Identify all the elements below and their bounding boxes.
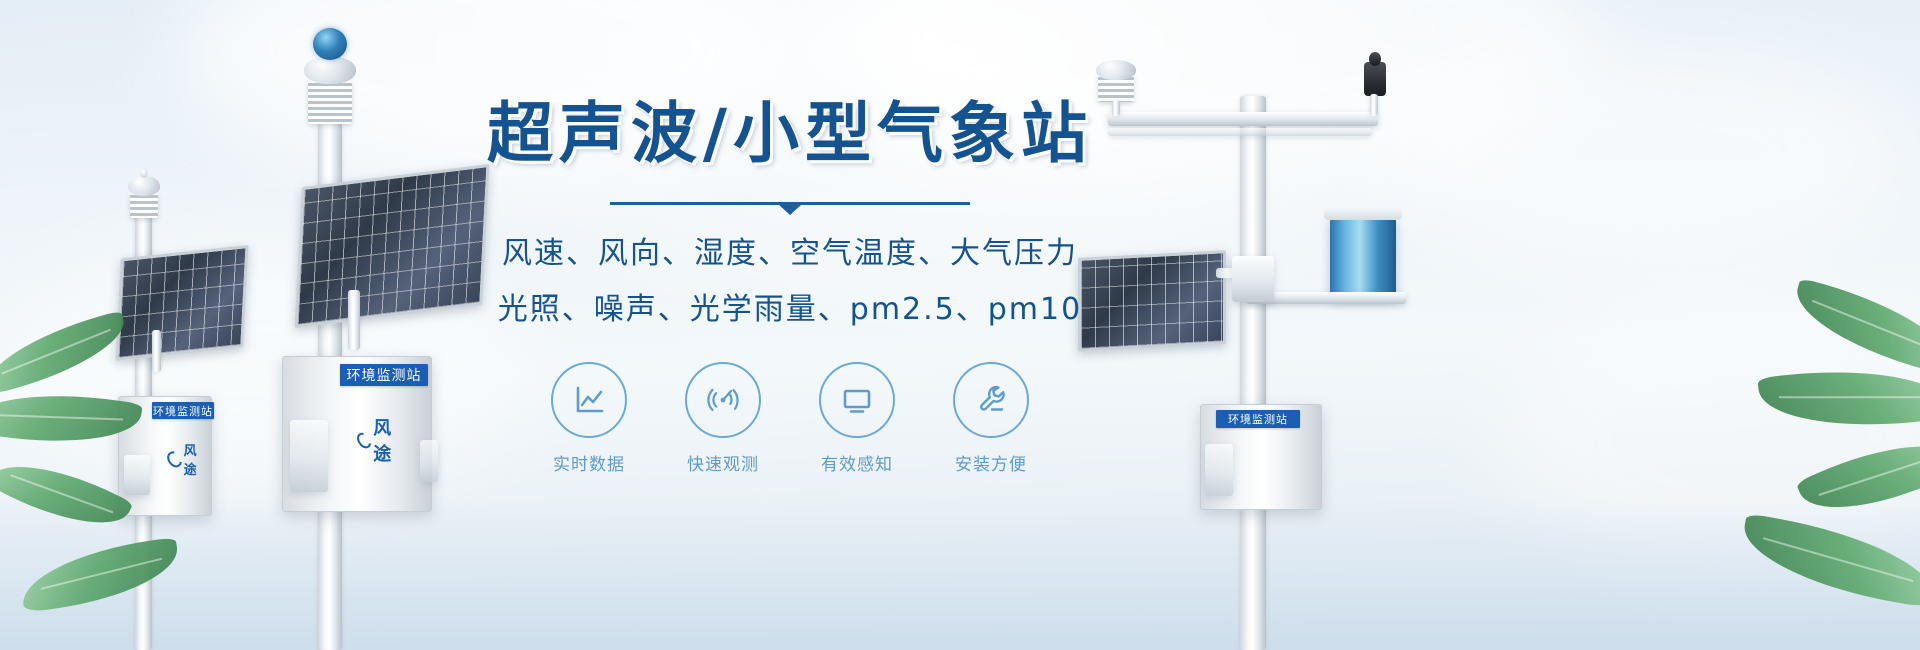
brand-name: 风途 bbox=[184, 440, 201, 478]
cabinet-label: 环境监测站 bbox=[152, 402, 214, 419]
banner-text-block: 超声波/小型气象站 风速、风向、湿度、空气温度、大气压力 光照、噪声、光学雨量、… bbox=[430, 96, 1150, 475]
wrench-icon bbox=[953, 362, 1029, 438]
cabinet-label: 环境监测站 bbox=[1216, 410, 1300, 428]
product-banner: 环境监测站 风途 环境监测站 风途 bbox=[0, 0, 1920, 650]
feature-label: 有效感知 bbox=[812, 450, 902, 475]
brand-mark-icon bbox=[354, 430, 374, 451]
feature-label: 实时数据 bbox=[544, 450, 634, 475]
banner-title: 超声波/小型气象站 bbox=[430, 96, 1150, 172]
banner-subtitle-line-2: 光照、噪声、光学雨量、pm2.5、pm10 bbox=[430, 284, 1150, 328]
title-divider bbox=[610, 198, 970, 212]
radar-observation-icon bbox=[685, 362, 761, 438]
feature-item-effective-sensing[interactable]: 有效感知 bbox=[812, 362, 902, 475]
feature-item-fast-observation[interactable]: 快速观测 bbox=[678, 362, 768, 475]
feature-label: 快速观测 bbox=[678, 450, 768, 475]
feature-list: 实时数据 快速观测 bbox=[430, 362, 1150, 475]
monitor-display-icon bbox=[819, 362, 895, 438]
ground-gradient bbox=[0, 500, 1920, 650]
cloud-decoration bbox=[1380, 40, 1900, 260]
brand-name: 风途 bbox=[373, 414, 396, 466]
line-chart-icon bbox=[551, 362, 627, 438]
feature-item-easy-install[interactable]: 安装方便 bbox=[946, 362, 1036, 475]
feature-label: 安装方便 bbox=[946, 450, 1036, 475]
banner-subtitle-line-1: 风速、风向、湿度、空气温度、大气压力 bbox=[430, 228, 1150, 272]
brand-mark-icon bbox=[164, 448, 184, 469]
brand-logo: 风途 bbox=[168, 440, 201, 478]
feature-item-realtime-data[interactable]: 实时数据 bbox=[544, 362, 634, 475]
cabinet-label: 环境监测站 bbox=[340, 364, 428, 386]
divider-triangle-icon bbox=[778, 204, 802, 215]
brand-logo: 风途 bbox=[358, 414, 396, 466]
